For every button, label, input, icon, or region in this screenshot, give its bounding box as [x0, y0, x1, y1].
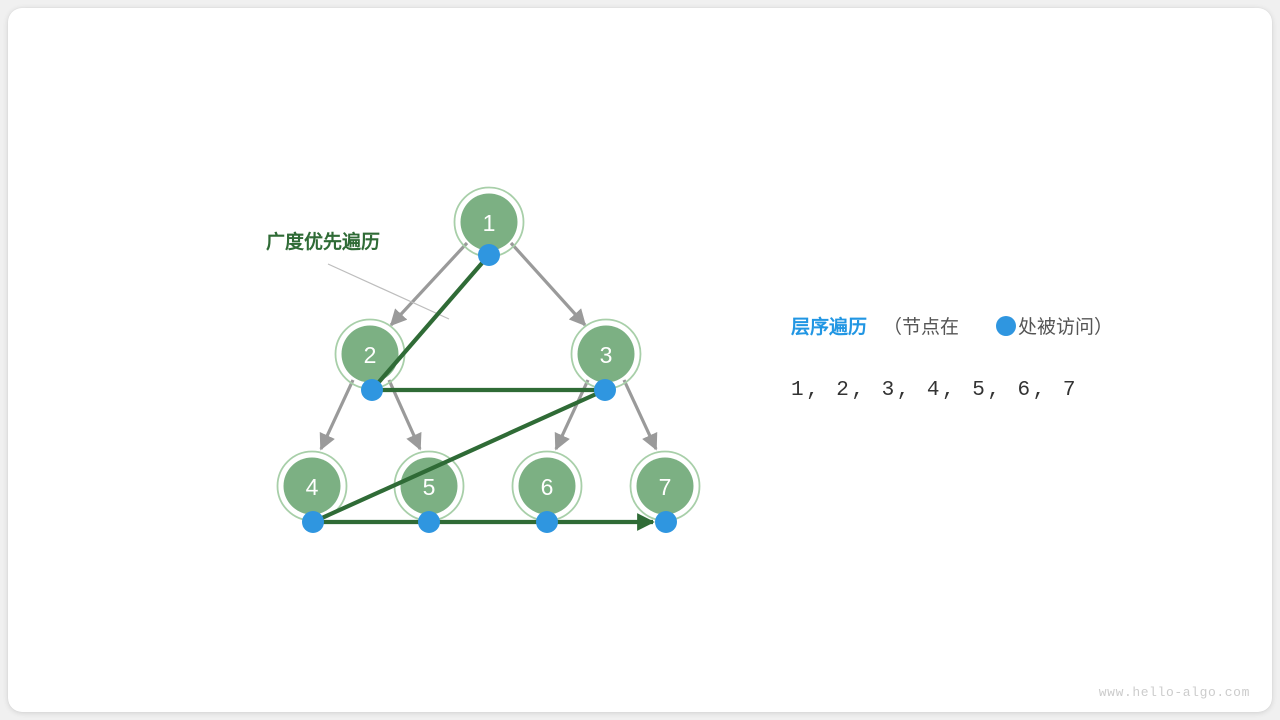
legend-title: 层序遍历 [791, 315, 867, 338]
tree-node-5[interactable]: 5 [395, 452, 464, 521]
visit-dot-icon-7[interactable] [655, 511, 677, 533]
tree-node-7[interactable]: 7 [631, 452, 700, 521]
watermark: www.hello-algo.com [1099, 685, 1250, 700]
bfs-annotation-label: 广度优先遍历 [266, 230, 380, 253]
tree-node-3[interactable]: 3 [572, 320, 641, 389]
traversal-sequence: 1, 2, 3, 4, 5, 6, 7 [791, 379, 1078, 402]
visit-dot-icon-5[interactable] [418, 511, 440, 533]
visit-dot-icon-1[interactable] [478, 244, 500, 266]
node-label: 3 [600, 342, 613, 368]
visit-dot-icon-6[interactable] [536, 511, 558, 533]
tree-node-6[interactable]: 6 [513, 452, 582, 521]
tree-node-2[interactable]: 2 [336, 320, 405, 389]
figure-card: 1 2 3 4 5 [8, 8, 1272, 712]
visit-dot-icon-3[interactable] [594, 379, 616, 401]
node-label: 6 [541, 474, 554, 500]
annotation-leader-line [328, 264, 449, 319]
tree-edge-1-3 [511, 243, 585, 325]
tree-edge-1-2 [391, 243, 467, 325]
node-label: 5 [423, 474, 436, 500]
tree-edge-3-7 [624, 380, 656, 449]
node-label: 2 [364, 342, 377, 368]
legend-prefix: （节点在 [883, 316, 959, 338]
bfs-traversal-diagram: 1 2 3 4 5 [8, 8, 1272, 712]
legend-block: 层序遍历 （节点在 处被访问） 1, 2, 3, 4, 5, 6, 7 [791, 315, 1113, 402]
legend-suffix: 处被访问） [1018, 316, 1113, 338]
node-label: 1 [483, 210, 496, 236]
visit-dot-icon-legend [996, 316, 1016, 336]
visit-dot-icon-4[interactable] [302, 511, 324, 533]
visit-dot-icon-2[interactable] [361, 379, 383, 401]
node-label: 7 [659, 474, 672, 500]
tree-edge-2-4 [321, 380, 353, 449]
node-label: 4 [306, 474, 319, 500]
traversal-segment-1-2 [372, 255, 489, 390]
